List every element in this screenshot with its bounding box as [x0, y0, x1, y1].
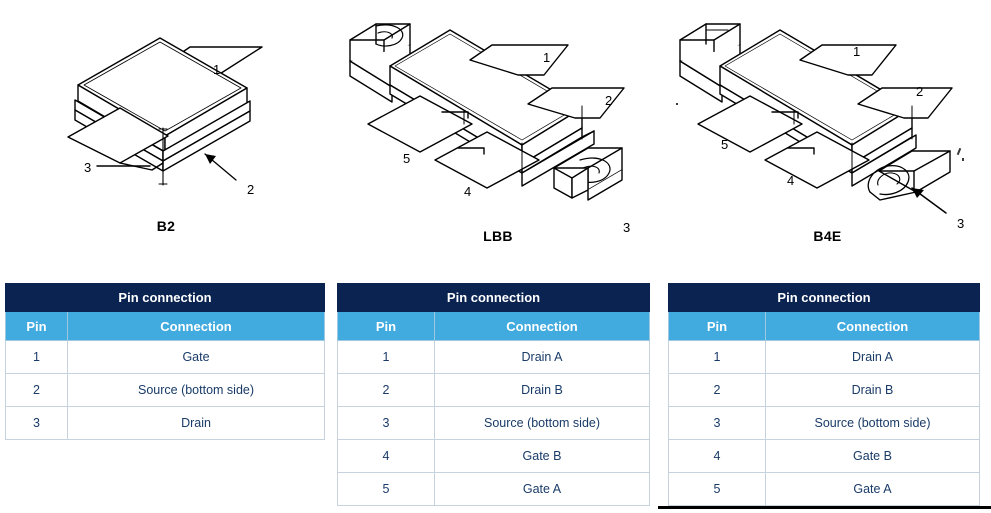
- cell-pin: 3: [338, 407, 435, 440]
- callout-b4e-1: 1: [853, 44, 860, 59]
- package-drawing-b2: 1 2 3 B2: [0, 0, 332, 262]
- cell-connection: Drain A: [435, 341, 650, 374]
- package-label-b2: B2: [0, 218, 332, 234]
- cell-pin: 2: [338, 374, 435, 407]
- table-header-row: Pin Connection: [6, 312, 325, 341]
- pin-connection-table-lbb: Pin connection Pin Connection 1 Drain A …: [337, 283, 650, 506]
- cell-connection: Drain B: [435, 374, 650, 407]
- pin-connection-table-b2: Pin connection Pin Connection 1 Gate 2 S…: [5, 283, 325, 440]
- table-header-row: Pin Connection: [669, 312, 980, 341]
- cell-connection: Drain: [68, 407, 325, 440]
- cell-pin: 1: [6, 341, 68, 374]
- callout-b2-1: 1: [213, 62, 220, 77]
- callout-lbb-2: 2: [605, 93, 612, 108]
- table-row: 4 Gate B: [338, 440, 650, 473]
- table-row: 2 Source (bottom side): [6, 374, 325, 407]
- callout-lbb-1: 1: [543, 50, 550, 65]
- table-title: Pin connection: [669, 284, 980, 312]
- cell-connection: Source (bottom side): [435, 407, 650, 440]
- callout-b2-2: 2: [247, 182, 254, 197]
- cell-pin: 1: [338, 341, 435, 374]
- footer-rule: [658, 506, 991, 509]
- b2-line-art: [0, 0, 332, 220]
- callout-b4e-4: 4: [787, 173, 794, 188]
- table-row: 1 Gate: [6, 341, 325, 374]
- callout-b4e-2: 2: [916, 84, 923, 99]
- table-row: 3 Drain: [6, 407, 325, 440]
- cell-pin: 2: [6, 374, 68, 407]
- cell-pin: 4: [338, 440, 435, 473]
- table-title: Pin connection: [6, 284, 325, 312]
- column-header-pin: Pin: [669, 312, 766, 341]
- package-drawing-b4e: 1 2 3 4 5 B4E: [664, 0, 991, 262]
- cell-connection: Source (bottom side): [766, 407, 980, 440]
- table-row: 2 Drain B: [338, 374, 650, 407]
- datasheet-page: 1 2 3 B2: [0, 0, 991, 513]
- cell-connection: Gate: [68, 341, 325, 374]
- pin-connection-table-b4e: Pin connection Pin Connection 1 Drain A …: [668, 283, 980, 506]
- table-row: 1 Drain A: [338, 341, 650, 374]
- cell-pin: 4: [669, 440, 766, 473]
- table-title-row: Pin connection: [338, 284, 650, 312]
- table-row: 5 Gate A: [669, 473, 980, 506]
- callout-b2-3: 3: [84, 160, 91, 175]
- scan-speck: [962, 158, 964, 161]
- table-row: 2 Drain B: [669, 374, 980, 407]
- table-row: 4 Gate B: [669, 440, 980, 473]
- table-header-row: Pin Connection: [338, 312, 650, 341]
- cell-pin: 3: [6, 407, 68, 440]
- column-header-connection: Connection: [68, 312, 325, 341]
- package-label-b4e: B4E: [664, 228, 991, 244]
- cell-connection: Gate B: [766, 440, 980, 473]
- column-header-connection: Connection: [435, 312, 650, 341]
- table-title: Pin connection: [338, 284, 650, 312]
- lbb-line-art: [332, 0, 664, 230]
- table-row: 1 Drain A: [669, 341, 980, 374]
- cell-connection: Gate A: [435, 473, 650, 506]
- cell-pin: 3: [669, 407, 766, 440]
- cell-pin: 2: [669, 374, 766, 407]
- callout-b4e-5: 5: [721, 137, 728, 152]
- cell-connection: Gate A: [766, 473, 980, 506]
- table-title-row: Pin connection: [669, 284, 980, 312]
- cell-pin: 1: [669, 341, 766, 374]
- package-drawing-lbb: 1 2 3 4 5 LBB: [332, 0, 664, 262]
- table-row: 3 Source (bottom side): [669, 407, 980, 440]
- column-header-connection: Connection: [766, 312, 980, 341]
- table-title-row: Pin connection: [6, 284, 325, 312]
- callout-lbb-5: 5: [403, 151, 410, 166]
- cell-connection: Gate B: [435, 440, 650, 473]
- table-row: 3 Source (bottom side): [338, 407, 650, 440]
- column-header-pin: Pin: [6, 312, 68, 341]
- cell-pin: 5: [669, 473, 766, 506]
- cell-connection: Drain A: [766, 341, 980, 374]
- scan-speck: [676, 103, 678, 105]
- cell-connection: Drain B: [766, 374, 980, 407]
- table-row: 5 Gate A: [338, 473, 650, 506]
- callout-lbb-4: 4: [464, 184, 471, 199]
- cell-connection: Source (bottom side): [68, 374, 325, 407]
- b4e-line-art: [664, 0, 991, 230]
- package-label-lbb: LBB: [332, 228, 664, 244]
- cell-pin: 5: [338, 473, 435, 506]
- column-header-pin: Pin: [338, 312, 435, 341]
